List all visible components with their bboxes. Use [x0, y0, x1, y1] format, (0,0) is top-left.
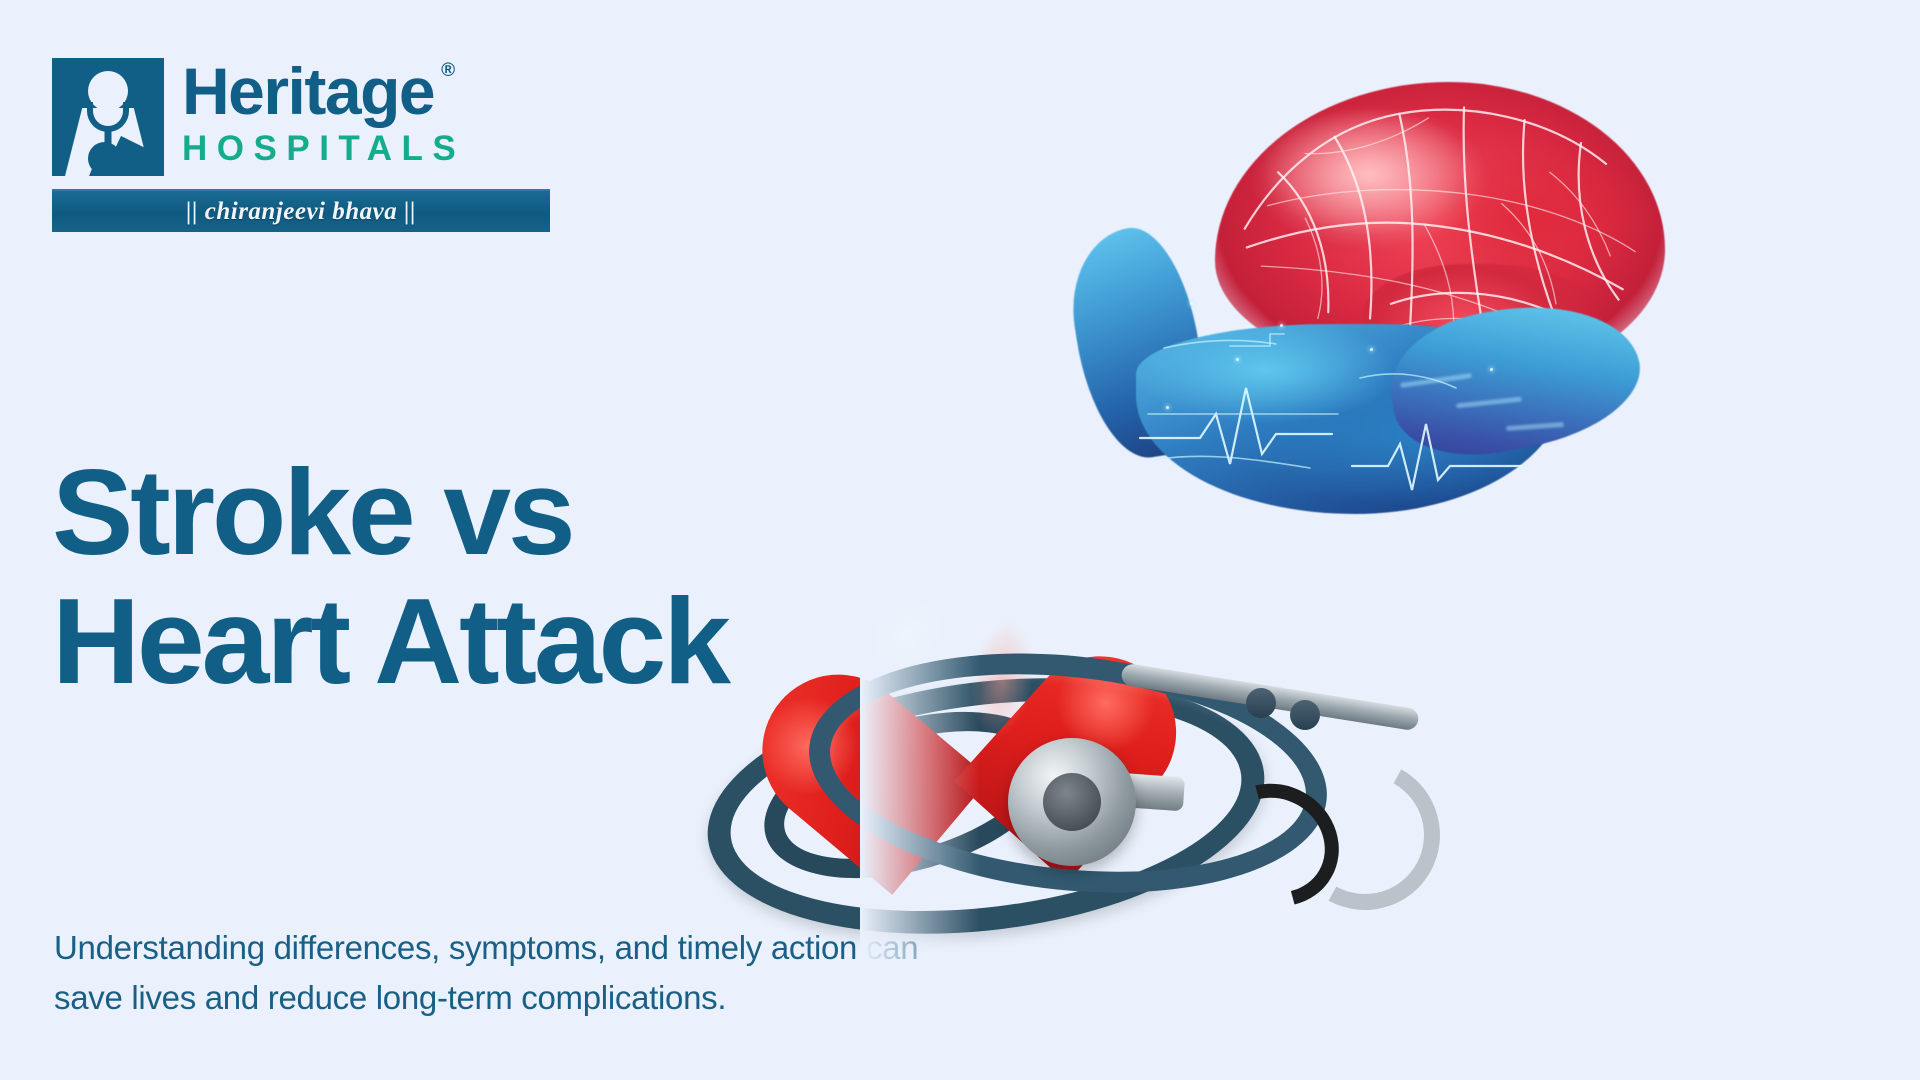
- registered-trademark-icon: ®: [441, 62, 455, 80]
- stethoscope-ear-tube-chrome: [1272, 742, 1458, 928]
- brain-highlight: [1245, 102, 1495, 252]
- human-brain-illustration: [1215, 82, 1665, 382]
- finger-seam-3: [1506, 422, 1564, 431]
- page-subtitle: Understanding differences, symptoms, and…: [54, 923, 954, 1023]
- stethoscope-knob-2: [1290, 700, 1320, 730]
- stethoscope-ear-tube-dark: [1189, 761, 1362, 930]
- hand-spark-4: [1280, 324, 1283, 327]
- page-title-line-1: Stroke vs: [52, 448, 1032, 577]
- hand-spark-3: [1166, 406, 1169, 409]
- logo-wordmark: Heritage® HOSPITALS: [182, 58, 465, 169]
- page-title: Stroke vs Heart Attack: [52, 448, 1032, 707]
- finger-seam-2: [1456, 397, 1522, 409]
- stethoscope-knob-1: [1246, 688, 1276, 718]
- brain-neural-lines: [1205, 72, 1675, 385]
- hand-palm-shape: [1136, 324, 1566, 514]
- logo-brand-name: Heritage®: [182, 60, 434, 123]
- brand-logo[interactable]: Heritage® HOSPITALS || chiranjeevi bhava…: [52, 58, 552, 232]
- digital-hand-illustration: [1070, 228, 1650, 558]
- content-column: Heritage® HOSPITALS || chiranjeevi bhava…: [52, 58, 1052, 1038]
- logo-brand-subtitle: HOSPITALS: [182, 129, 465, 169]
- hand-thumb-shape: [1061, 220, 1216, 466]
- stethoscope-headset-bar: [1120, 663, 1420, 732]
- stethoscope-chestpiece-stem: [1087, 771, 1185, 812]
- logo-tagline-bar: || chiranjeevi bhava ||: [52, 189, 550, 232]
- finger-seam-1: [1400, 373, 1472, 388]
- hand-ecg-overlay: [1070, 228, 1650, 558]
- hand-spark-2: [1236, 358, 1239, 361]
- hand-spark-6: [1490, 368, 1493, 371]
- logo-tagline-text: || chiranjeevi bhava ||: [186, 198, 416, 226]
- hand-fingers-shape: [1379, 285, 1651, 470]
- hand-spark-1: [1190, 302, 1193, 305]
- brain-cerebellum-shape: [1363, 264, 1603, 414]
- page-title-line-2: Heart Attack: [52, 577, 1032, 706]
- logo-top-row: Heritage® HOSPITALS: [52, 58, 552, 176]
- brain-body-shape: [1215, 82, 1665, 382]
- promo-banner: Heritage® HOSPITALS || chiranjeevi bhava…: [0, 0, 1920, 1080]
- hand-spark-5: [1370, 348, 1373, 351]
- doctor-with-stethoscope-icon: [52, 58, 164, 176]
